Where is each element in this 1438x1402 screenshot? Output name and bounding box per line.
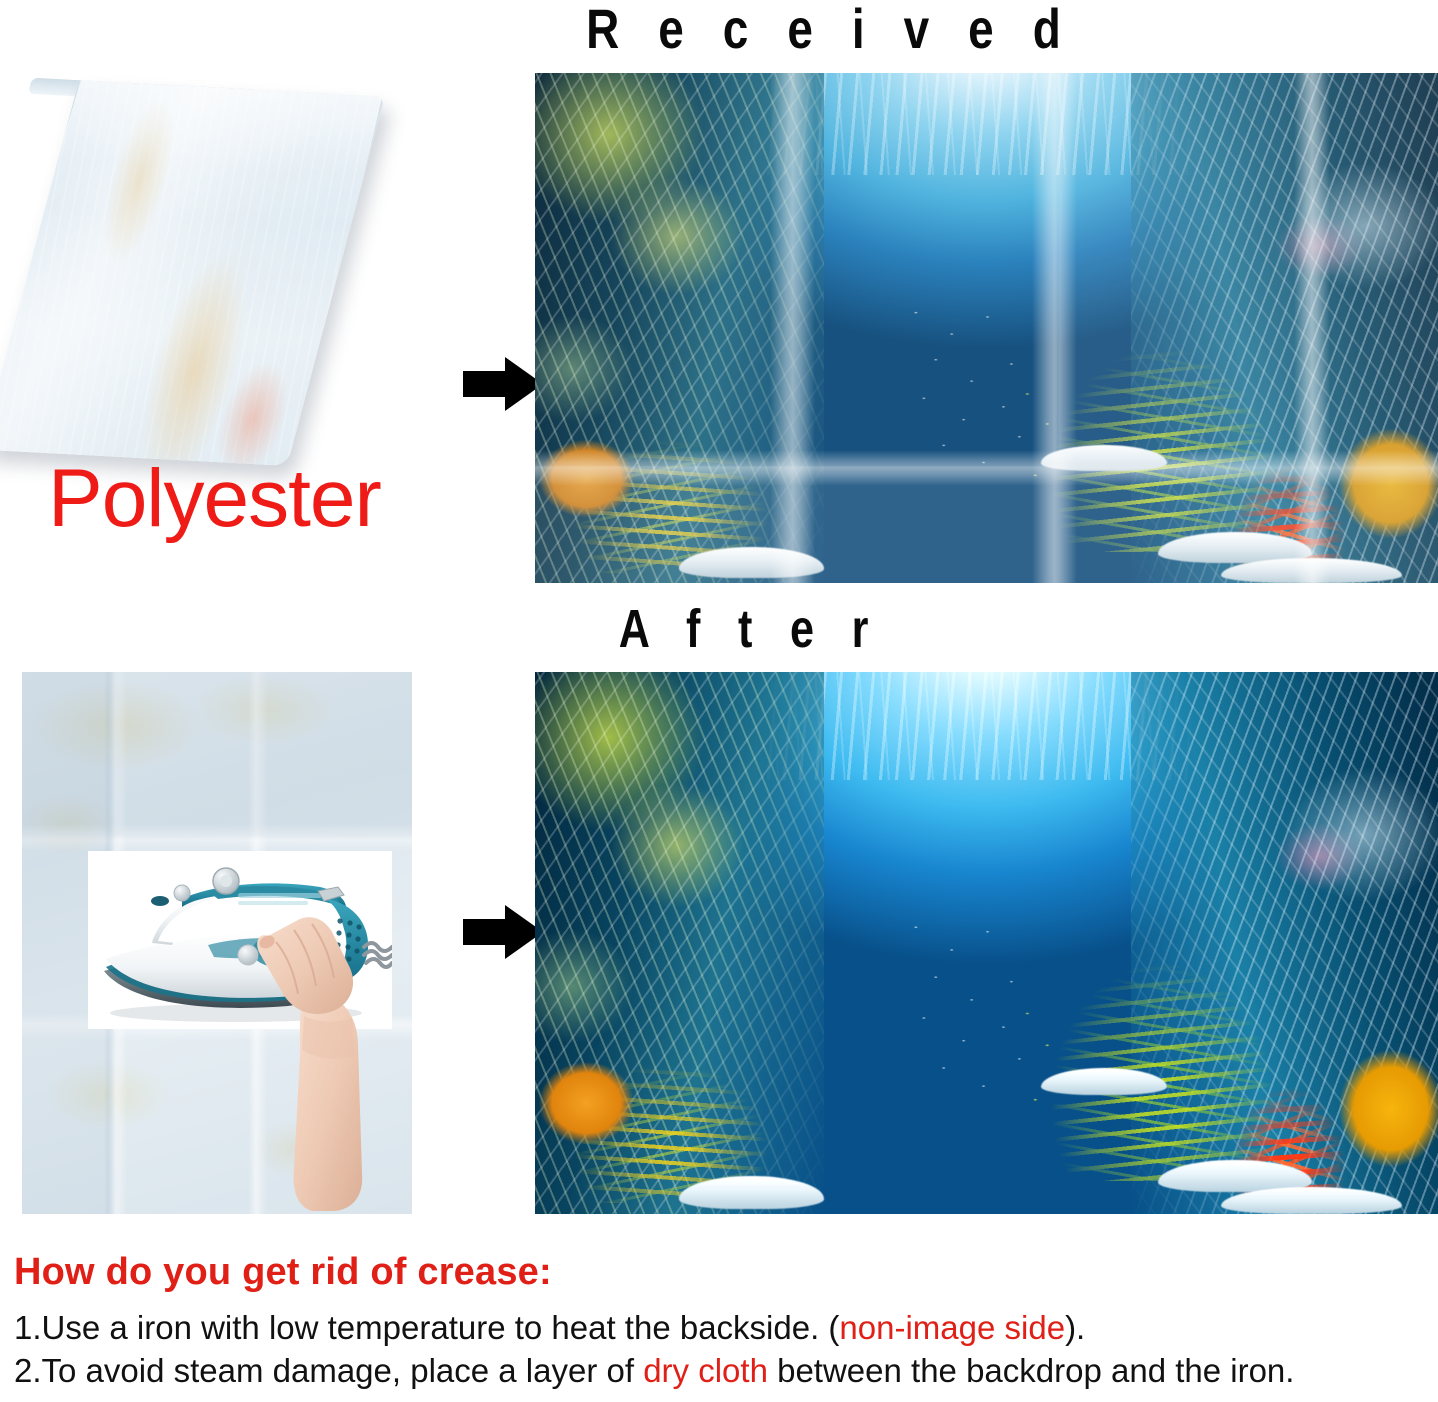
instruction-step-1: 1.Use a iron with low temperature to hea…	[14, 1306, 1434, 1350]
arrow-shaft	[463, 371, 509, 397]
received-backdrop-image	[535, 73, 1438, 583]
fish-school	[896, 900, 1095, 1128]
step1-suffix: ).	[1065, 1309, 1085, 1346]
after-backdrop-image	[535, 672, 1438, 1214]
material-label: Polyester	[48, 458, 381, 540]
step2-suffix: between the backdrop and the iron.	[768, 1352, 1295, 1389]
hand-icon	[254, 906, 374, 1211]
arrow-shaft	[463, 919, 509, 945]
folded-polyester-photo	[18, 80, 418, 480]
step2-prefix: 2.To avoid steam damage, place a layer o…	[14, 1352, 643, 1389]
orange-sponge	[535, 435, 634, 522]
right-arrow-icon	[463, 905, 543, 959]
right-arrow-icon	[463, 357, 543, 411]
step1-prefix: 1.Use a iron with low temperature to hea…	[14, 1309, 839, 1346]
step2-highlight: dry cloth	[643, 1352, 768, 1389]
instructions-heading: How do you get rid of crease:	[14, 1252, 1434, 1294]
orange-sponge	[535, 1057, 634, 1149]
after-heading: A f t e r	[526, 598, 974, 660]
instruction-step-2: 2.To avoid steam damage, place a layer o…	[14, 1349, 1434, 1393]
product-instruction-graphic: R e c e i v e d Polyester	[0, 0, 1438, 1402]
step1-highlight: non-image side	[839, 1309, 1065, 1346]
instructions-block: How do you get rid of crease: 1.Use a ir…	[14, 1252, 1434, 1393]
fish-school	[896, 287, 1095, 501]
received-heading: R e c e i v e d	[527, 0, 1134, 61]
fabric-sheet	[0, 80, 385, 466]
